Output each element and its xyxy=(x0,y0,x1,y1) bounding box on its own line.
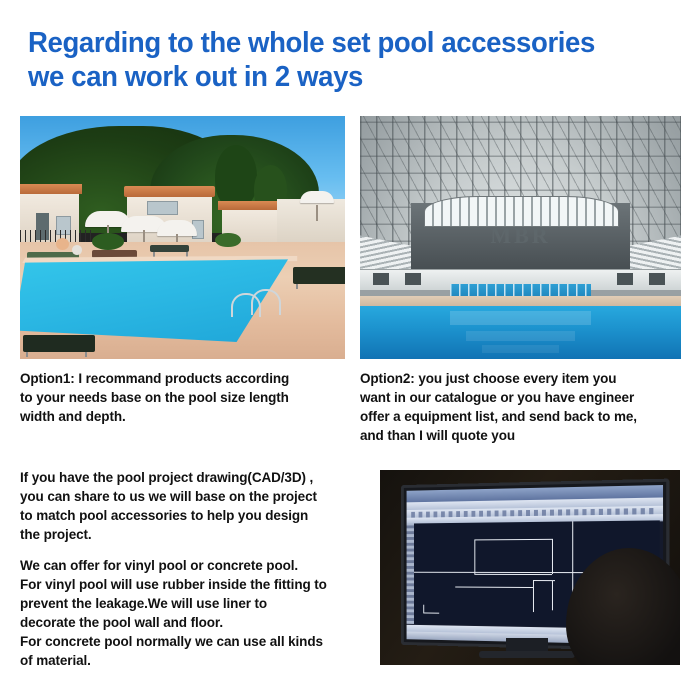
cad-rect-bottom xyxy=(474,574,552,575)
wall-opening xyxy=(373,273,389,285)
cad-ucs-icon xyxy=(423,612,439,613)
wall-opening xyxy=(405,273,421,285)
indoor-pool-photo: MBR xyxy=(360,116,681,359)
person xyxy=(72,245,82,255)
roof xyxy=(218,201,283,210)
villa-window xyxy=(147,201,178,215)
cad-rect-left xyxy=(474,539,475,574)
sun-lounger xyxy=(150,245,189,252)
roof xyxy=(20,184,82,194)
wall-opening xyxy=(617,273,633,285)
roof xyxy=(124,186,215,197)
cad-detail-line xyxy=(456,586,533,587)
product-description-page: Regarding to the whole set pool accessor… xyxy=(0,0,700,700)
shrub xyxy=(215,233,241,248)
main-pool-water xyxy=(360,306,681,359)
sun-lounger xyxy=(293,267,345,284)
outdoor-pool-photo xyxy=(20,116,345,359)
window-reflection xyxy=(466,331,575,341)
cad-rect-top xyxy=(474,538,552,540)
tree-icon xyxy=(215,145,257,208)
wall-opening xyxy=(649,273,665,285)
person xyxy=(56,238,69,250)
pool-material-paragraph: We can offer for vinyl pool or concrete … xyxy=(20,556,380,670)
window-reflection xyxy=(450,311,591,325)
cad-detail-line xyxy=(533,580,555,581)
cad-rect-right xyxy=(552,538,553,574)
cad-detail-line xyxy=(552,580,553,610)
cad-ucs-icon xyxy=(423,604,424,612)
sun-lounger xyxy=(92,250,138,259)
option1-caption: Option1: I recommand products according … xyxy=(20,369,350,426)
sun-lounger xyxy=(23,335,95,352)
page-title: Regarding to the whole set pool accessor… xyxy=(28,26,646,94)
cad-detail-line xyxy=(533,580,534,611)
cad-monitor-photo xyxy=(380,470,680,665)
shrub xyxy=(92,233,125,250)
option2-caption: Option2: you just choose every item you … xyxy=(360,369,690,445)
pool-handrail xyxy=(251,289,281,315)
monitor-base xyxy=(479,651,575,658)
cad-drawing-paragraph: If you have the pool project drawing(CAD… xyxy=(20,468,370,544)
parasol-icon xyxy=(157,220,197,236)
wall-logo-text: MBR xyxy=(360,223,681,249)
parasol-icon xyxy=(300,191,334,203)
window-reflection xyxy=(482,345,559,352)
